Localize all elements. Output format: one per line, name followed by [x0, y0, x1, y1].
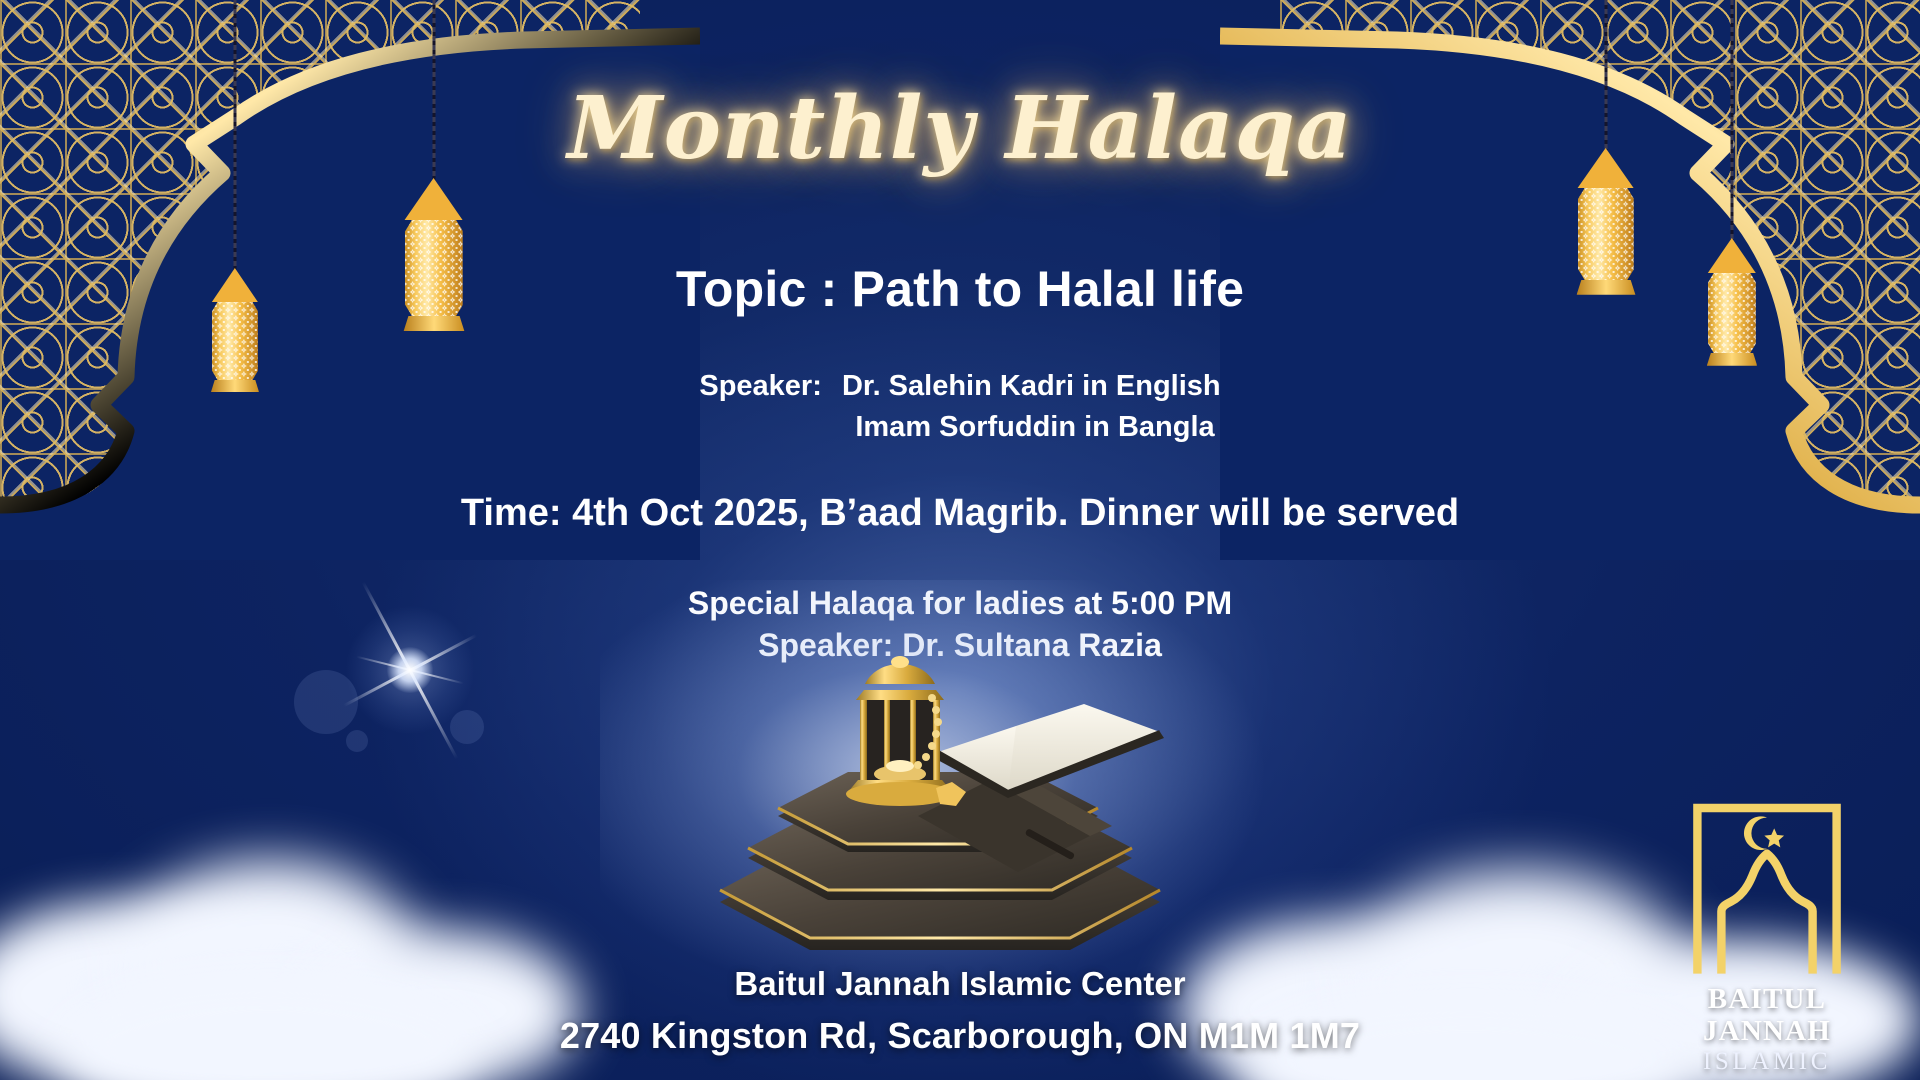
- time-line: Time: 4th Oct 2025, B’aad Magrib. Dinner…: [0, 492, 1920, 535]
- lantern-base: [1707, 353, 1757, 366]
- flare-orb: [450, 710, 484, 744]
- centerpiece-lantern: [846, 656, 966, 806]
- page-title: Monthly Halaqa: [0, 78, 1920, 179]
- speaker-label: Speaker:: [699, 370, 822, 402]
- venue-block: Baitul Jannah Islamic Center 2740 Kingst…: [0, 958, 1920, 1062]
- flare-orb: [294, 670, 358, 734]
- speaker-primary: Dr. Salehin Kadri in English: [842, 370, 1221, 402]
- hanging-lantern-right-2: [1700, 0, 1764, 400]
- mosque-arch-crescent-icon: [1642, 796, 1892, 976]
- event-poster: Monthly Halaqa Topic : Path to Halal lif…: [0, 0, 1920, 1080]
- lantern-cap: [405, 178, 463, 220]
- quran-on-rehal-with-lantern-icon: [660, 640, 1220, 970]
- venue-name: Baitul Jannah Islamic Center: [0, 958, 1920, 1010]
- flare-orb: [346, 730, 368, 752]
- venue-address: 2740 Kingston Rd, Scarborough, ON M1M 1M…: [0, 1010, 1920, 1062]
- speaker-block: Speaker: Dr. Salehin Kadri in English Im…: [0, 366, 1920, 448]
- hanging-lantern-left-1: [205, 0, 265, 410]
- lantern-base: [404, 316, 465, 331]
- topic-line: Topic : Path to Halal life: [0, 260, 1920, 318]
- speaker-secondary: Imam Sorfuddin in Bangla: [0, 407, 1920, 448]
